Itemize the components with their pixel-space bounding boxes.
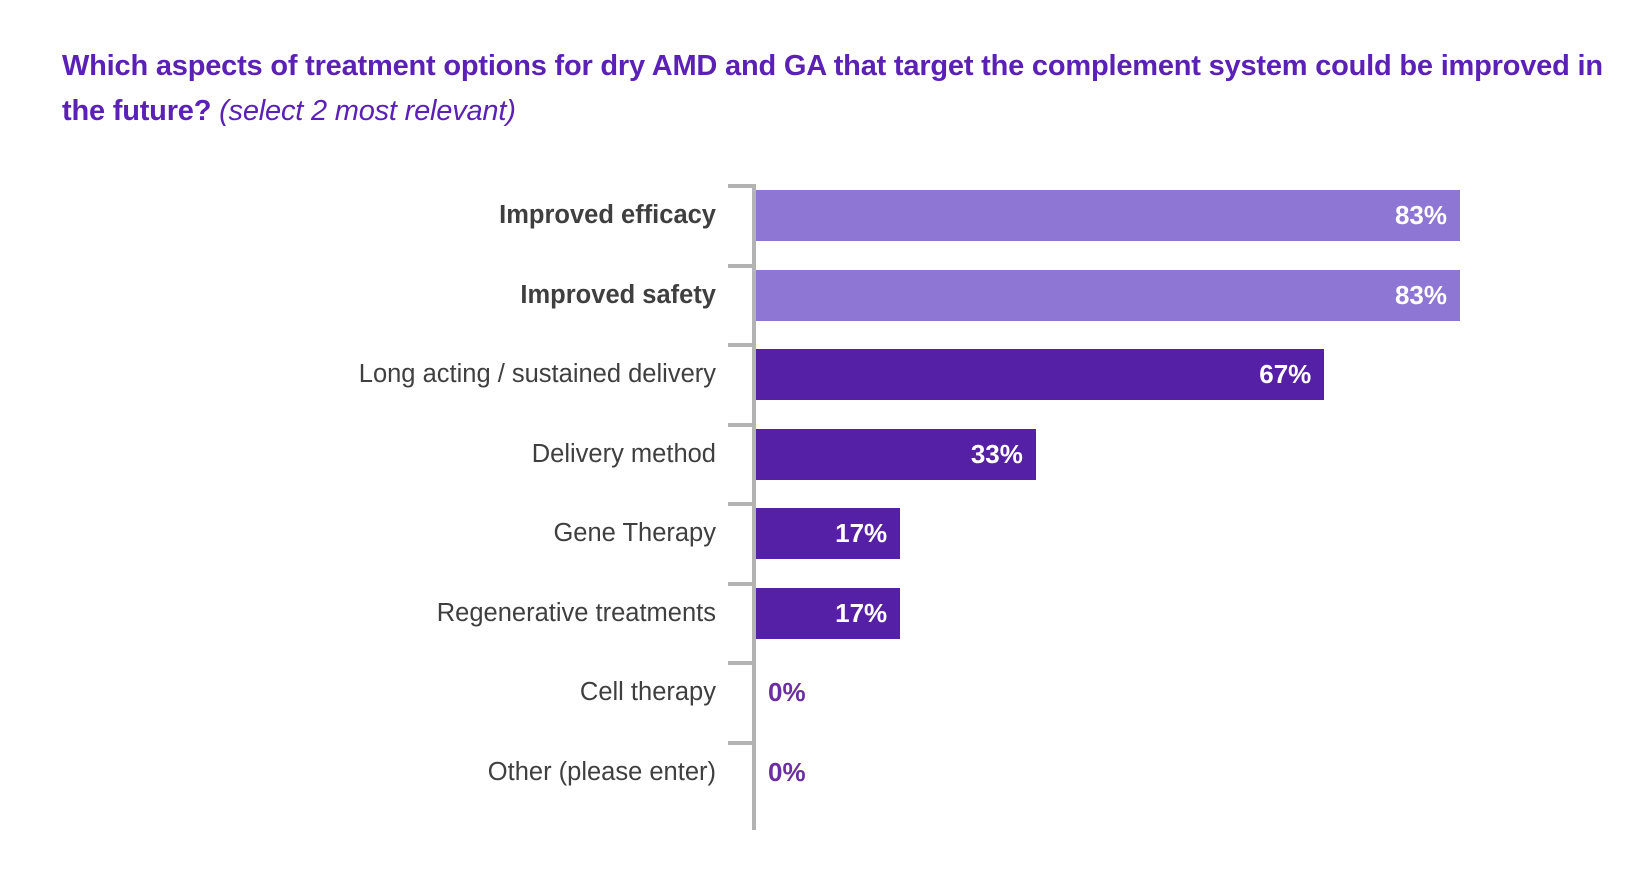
chart-page: Which aspects of treatment options for d… — [0, 0, 1652, 888]
bar-value-label: 83% — [1395, 280, 1447, 311]
category-label: Improved efficacy — [0, 176, 716, 256]
bar-row: Gene Therapy17% — [0, 494, 1652, 574]
bar: 33% — [756, 429, 1036, 480]
bar: 83% — [756, 270, 1460, 321]
axis-tick — [728, 343, 754, 347]
bar-row: Long acting / sustained delivery67% — [0, 335, 1652, 415]
bar-row: Improved efficacy83% — [0, 176, 1652, 256]
category-label: Other (please enter) — [0, 733, 716, 813]
bar-value-label: 0% — [756, 667, 806, 718]
axis-tick — [728, 423, 754, 427]
category-label: Regenerative treatments — [0, 574, 716, 654]
bar-value-label: 33% — [971, 439, 1023, 470]
category-label: Long acting / sustained delivery — [0, 335, 716, 415]
axis-tick — [728, 661, 754, 665]
bar-rows: Improved efficacy83%Improved safety83%Lo… — [0, 176, 1652, 812]
bar: 67% — [756, 349, 1324, 400]
bar: 17% — [756, 588, 900, 639]
bar-container: 0% — [756, 733, 1636, 813]
bar-row: Regenerative treatments17% — [0, 574, 1652, 654]
bar-container: 83% — [756, 256, 1636, 336]
bar-container: 33% — [756, 415, 1636, 495]
bar-row: Improved safety83% — [0, 256, 1652, 336]
bar-value-label: 0% — [756, 747, 806, 798]
axis-tick — [728, 741, 754, 745]
bar-value-label: 17% — [835, 598, 887, 629]
bar-value-label: 67% — [1259, 359, 1311, 390]
axis-tick — [728, 264, 754, 268]
bar-container: 0% — [756, 653, 1636, 733]
bar-row: Other (please enter)0% — [0, 733, 1652, 813]
bar-value-label: 17% — [835, 518, 887, 549]
bar-container: 67% — [756, 335, 1636, 415]
bar-row: Cell therapy0% — [0, 653, 1652, 733]
bar-row: Delivery method33% — [0, 415, 1652, 495]
category-label: Delivery method — [0, 415, 716, 495]
axis-tick — [728, 184, 754, 188]
bar: 83% — [756, 190, 1460, 241]
bar-container: 83% — [756, 176, 1636, 256]
category-label: Cell therapy — [0, 653, 716, 733]
bar-chart: Improved efficacy83%Improved safety83%Lo… — [0, 176, 1652, 836]
category-label: Gene Therapy — [0, 494, 716, 574]
axis-tick — [728, 502, 754, 506]
bar-container: 17% — [756, 574, 1636, 654]
axis-tick — [728, 582, 754, 586]
title-subtitle-text: (select 2 most relevant) — [219, 95, 516, 127]
bar-container: 17% — [756, 494, 1636, 574]
bar: 17% — [756, 508, 900, 559]
category-label: Improved safety — [0, 256, 716, 336]
page-title: Which aspects of treatment options for d… — [62, 44, 1607, 134]
bar-value-label: 83% — [1395, 200, 1447, 231]
